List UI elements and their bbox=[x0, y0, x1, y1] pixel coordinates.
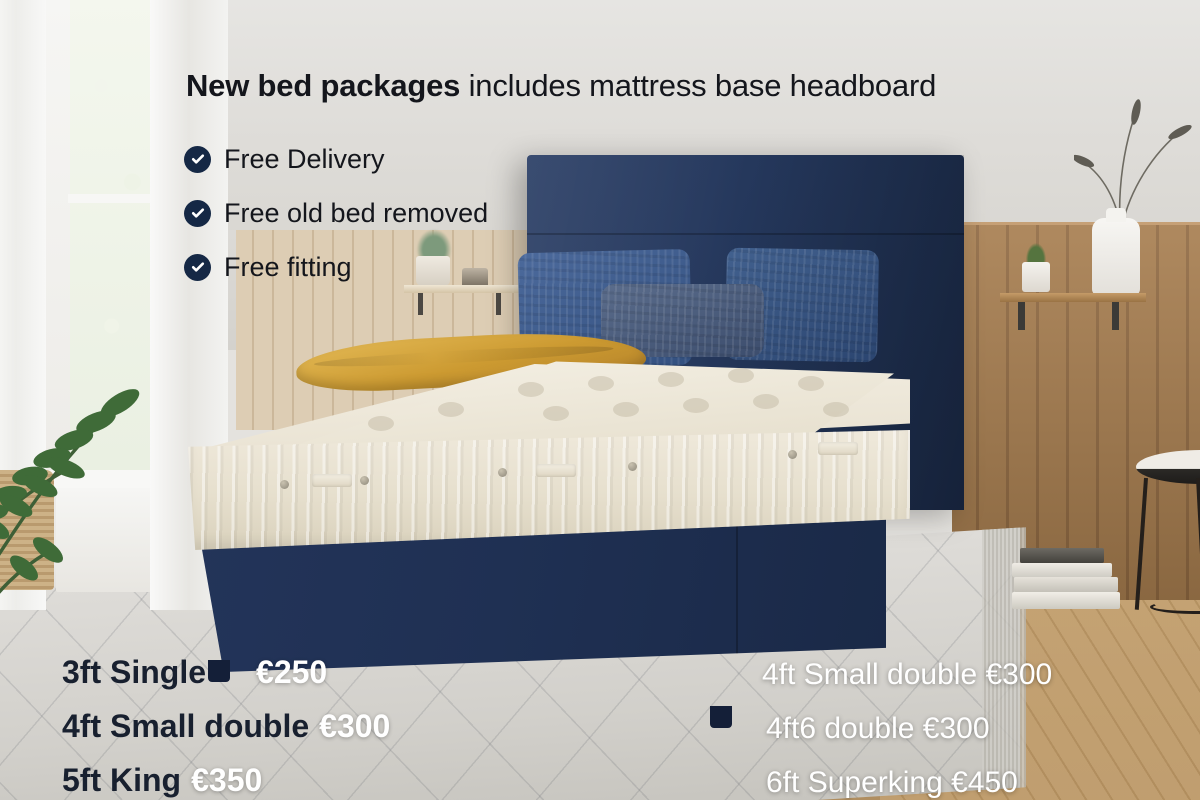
bed-package-promo-image: New bed packages includes mattress base … bbox=[0, 0, 1200, 800]
price-row: 6ft Superking €450 bbox=[762, 756, 1052, 800]
price-row: 4ft6 double €300 bbox=[762, 702, 1052, 756]
dried-grass-stems-icon bbox=[1074, 90, 1200, 226]
wall-shelf-right bbox=[1000, 293, 1146, 302]
bed-size-label: 4ft Small double bbox=[62, 708, 309, 744]
stacked-books bbox=[1012, 548, 1120, 610]
shelf-bracket bbox=[496, 293, 501, 315]
price-row: 4ft Small double€300 bbox=[62, 699, 390, 753]
price-list-right: 4ft Small double €300 4ft6 double €300 6… bbox=[762, 648, 1052, 800]
check-circle-icon bbox=[184, 200, 211, 227]
feature-label: Free Delivery bbox=[224, 144, 385, 175]
zz-plant-icon bbox=[0, 290, 190, 600]
bed-price-value: €250 bbox=[256, 654, 327, 690]
shelf-bracket bbox=[418, 293, 423, 315]
bed-price-value: €300 bbox=[319, 708, 390, 744]
feature-label: Free old bed removed bbox=[224, 198, 488, 229]
pocket-sprung-mattress bbox=[188, 358, 910, 550]
list-item: Free Delivery bbox=[184, 132, 488, 186]
check-circle-icon bbox=[184, 254, 211, 281]
page-title: New bed packages includes mattress base … bbox=[186, 68, 936, 104]
plant-pot-right bbox=[1022, 262, 1050, 292]
bed-foot-right bbox=[710, 706, 732, 728]
bed-size-label: 3ft Single bbox=[62, 654, 206, 690]
feature-label: Free fitting bbox=[224, 252, 352, 283]
price-row: 5ft King€350 bbox=[62, 753, 390, 800]
feature-list: Free Delivery Free old bed removed Free … bbox=[184, 132, 488, 294]
price-list-left: 3ft Single€250 4ft Small double€300 5ft … bbox=[62, 645, 390, 800]
mattress-quilting bbox=[188, 430, 910, 550]
price-row: 4ft Small double €300 bbox=[762, 648, 1052, 702]
check-circle-icon bbox=[184, 146, 211, 173]
price-row: 3ft Single€250 bbox=[62, 645, 390, 699]
headline-bold: New bed packages bbox=[186, 68, 460, 103]
shelf-bracket bbox=[1018, 302, 1025, 330]
list-item: Free fitting bbox=[184, 240, 488, 294]
list-item: Free old bed removed bbox=[184, 186, 488, 240]
white-vase bbox=[1092, 218, 1140, 296]
headline-rest: includes mattress base headboard bbox=[460, 68, 936, 103]
bed-price-value: €350 bbox=[191, 762, 262, 798]
shelf-bracket bbox=[1112, 302, 1119, 330]
succulent-plant bbox=[1024, 240, 1048, 264]
bed-size-label: 5ft King bbox=[62, 762, 181, 798]
